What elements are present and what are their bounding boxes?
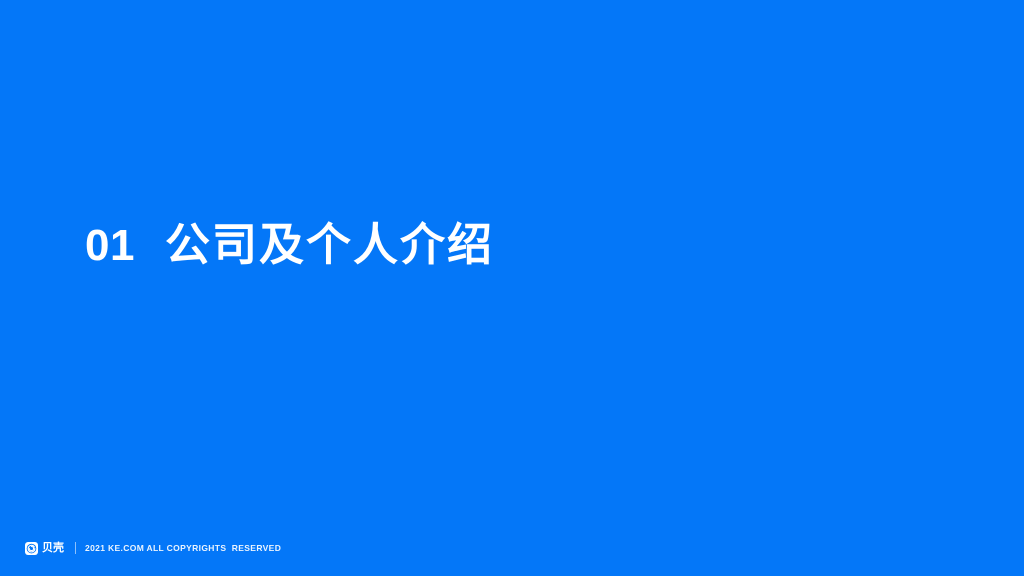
brand-name: 贝壳 — [42, 543, 64, 554]
section-number: 01 — [85, 224, 135, 268]
copyright-text: 2021 KE.COM ALL COPYRIGHTS RESERVED — [85, 544, 281, 553]
footer-divider — [75, 542, 76, 554]
section-title: 01 公司及个人介绍 — [85, 222, 494, 268]
presentation-slide: 01 公司及个人介绍 贝壳 2021 KE.COM ALL COPYRIGHTS… — [0, 0, 1024, 576]
brand-lockup: 贝壳 — [25, 542, 64, 555]
section-heading: 公司及个人介绍 — [165, 222, 494, 267]
shell-logo-icon — [25, 542, 38, 555]
slide-footer: 贝壳 2021 KE.COM ALL COPYRIGHTS RESERVED — [25, 539, 281, 557]
